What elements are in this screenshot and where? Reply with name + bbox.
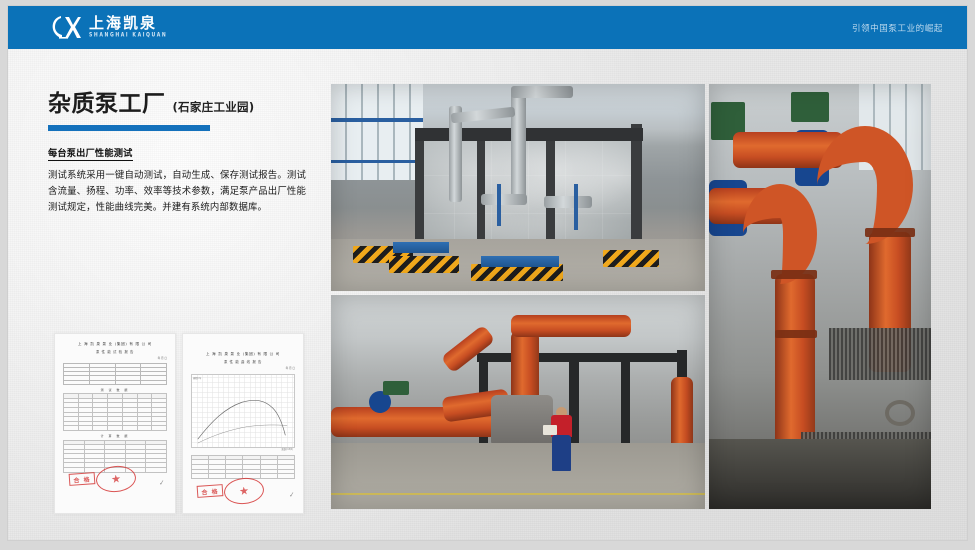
logo-english-name: SHANGHAI KAIQUAN <box>89 34 167 40</box>
sump-pit <box>709 439 931 509</box>
doc2-signature: ✓ <box>289 491 296 500</box>
shop-floor <box>331 443 705 509</box>
floor-grating-right <box>829 328 931 380</box>
suction-pipe <box>481 194 527 205</box>
steel-column-2 <box>477 130 485 255</box>
doc-pump-test-report[interactable]: 上 海 凯 泉 泵 业 (集团) 有 限 公 司 泵 性 能 试 验 报 告 年… <box>54 333 176 514</box>
mezzanine-beam <box>477 353 687 362</box>
spare-pipe-spool <box>885 400 915 426</box>
flange-left-lower <box>775 330 817 338</box>
left-pipe-elbow <box>743 184 817 284</box>
page-title: 杂质泵工厂 (石家庄工业园) <box>48 84 316 118</box>
section-lead-heading: 每台泵出厂性能测试 <box>48 145 133 161</box>
doc2-summary-table <box>191 455 295 479</box>
discharge-pipe <box>544 196 592 208</box>
doc2-x-axis-label: 流量(m3/h) <box>281 447 293 451</box>
hall-railing-lower <box>331 160 423 163</box>
transfer-cart-4 <box>603 250 659 267</box>
worker-clipboard <box>543 425 557 435</box>
worker-trousers <box>552 435 571 471</box>
doc1-signature: ✓ <box>159 479 166 488</box>
doc-pump-curve-report[interactable]: 上 海 凯 泉 泵 业 (集团) 有 限 公 司 泵 性 能 曲 线 报 告 年… <box>182 333 304 514</box>
doc1-qualified-stamp: 合 格 <box>69 472 96 486</box>
doc2-y-axis-label: 扬程(m) <box>193 376 201 380</box>
flange-left-upper <box>771 270 817 279</box>
header-tagline: 引领中国泵工业的崛起 <box>852 6 943 49</box>
doc2-date-line: 年 月 日 <box>191 366 295 370</box>
company-logo[interactable]: 上海凯泉 SHANGHAI KAIQUAN <box>48 12 167 42</box>
doc1-measured-table <box>63 393 167 431</box>
photo-pump-test-hall[interactable] <box>331 84 705 291</box>
doc2-report-title: 泵 性 能 曲 线 报 告 <box>191 359 295 364</box>
pump-casing <box>491 395 553 447</box>
cart-platform-1 <box>393 242 449 253</box>
floor-safety-line <box>331 493 705 495</box>
hall-railing <box>331 118 423 122</box>
valve-actuator-green <box>383 381 409 395</box>
doc1-header-table <box>63 363 167 385</box>
slide-canvas: 上海凯泉 SHANGHAI KAIQUAN 引领中国泵工业的崛起 杂质泵工厂 (… <box>8 6 967 540</box>
text-column: 杂质泵工厂 (石家庄工业园) 每台泵出厂性能测试 测试系统采用一键自动测试，自动… <box>48 84 316 217</box>
kaiquan-logo-icon <box>48 13 82 41</box>
doc2-qualified-stamp: 合 格 <box>197 484 224 498</box>
logo-chinese-name: 上海凯泉 <box>89 16 167 31</box>
photo-pipe-loop-worker[interactable] <box>331 295 705 509</box>
logo-wordmark: 上海凯泉 SHANGHAI KAIQUAN <box>89 16 167 39</box>
stainless-duct-crossover <box>511 86 573 98</box>
upper-horizontal-pipe <box>511 315 631 337</box>
valve-gearbox-top <box>791 92 829 122</box>
doc2-performance-chart: 扬程(m) 流量(m3/h) <box>191 374 295 448</box>
steel-column-1 <box>415 130 424 255</box>
steel-column-3 <box>546 130 555 255</box>
pipe-support-2 <box>574 184 578 230</box>
doc2-company-line: 上 海 凯 泉 泵 业 (集团) 有 限 公 司 <box>191 351 295 358</box>
title-main-text: 杂质泵工厂 <box>48 84 166 118</box>
doc1-section-computed: 计 算 数 据 <box>63 434 167 438</box>
section-body-text: 测试系统采用一键自动测试，自动生成、保存测试报告。测试含流量、扬程、功率、效率等… <box>48 168 306 217</box>
doc1-section-measured: 测 试 数 据 <box>63 388 167 392</box>
cart-platform-2 <box>481 256 559 267</box>
right-pipe-elbow <box>817 126 913 244</box>
title-underline-bar <box>48 125 210 131</box>
brand-header: 上海凯泉 SHANGHAI KAIQUAN 引领中国泵工业的崛起 <box>8 6 967 49</box>
doc1-company-line: 上 海 凯 泉 泵 业 (集团) 有 限 公 司 <box>63 341 167 348</box>
title-sub-text: (石家庄工业园) <box>173 99 255 115</box>
photo-vertical-elbows[interactable] <box>709 84 931 509</box>
doc1-report-title: 泵 性 能 试 验 报 告 <box>63 349 167 354</box>
certificate-gallery: 上 海 凯 泉 泵 业 (集团) 有 限 公 司 泵 性 能 试 验 报 告 年… <box>54 333 304 514</box>
transfer-cart-2 <box>389 256 459 273</box>
hall-window-band <box>331 84 423 180</box>
pipe-support-1 <box>497 184 501 226</box>
flange-right-upper <box>865 228 915 237</box>
photo-gallery <box>331 84 931 509</box>
doc1-date-line: 年 月 日 <box>63 356 167 360</box>
